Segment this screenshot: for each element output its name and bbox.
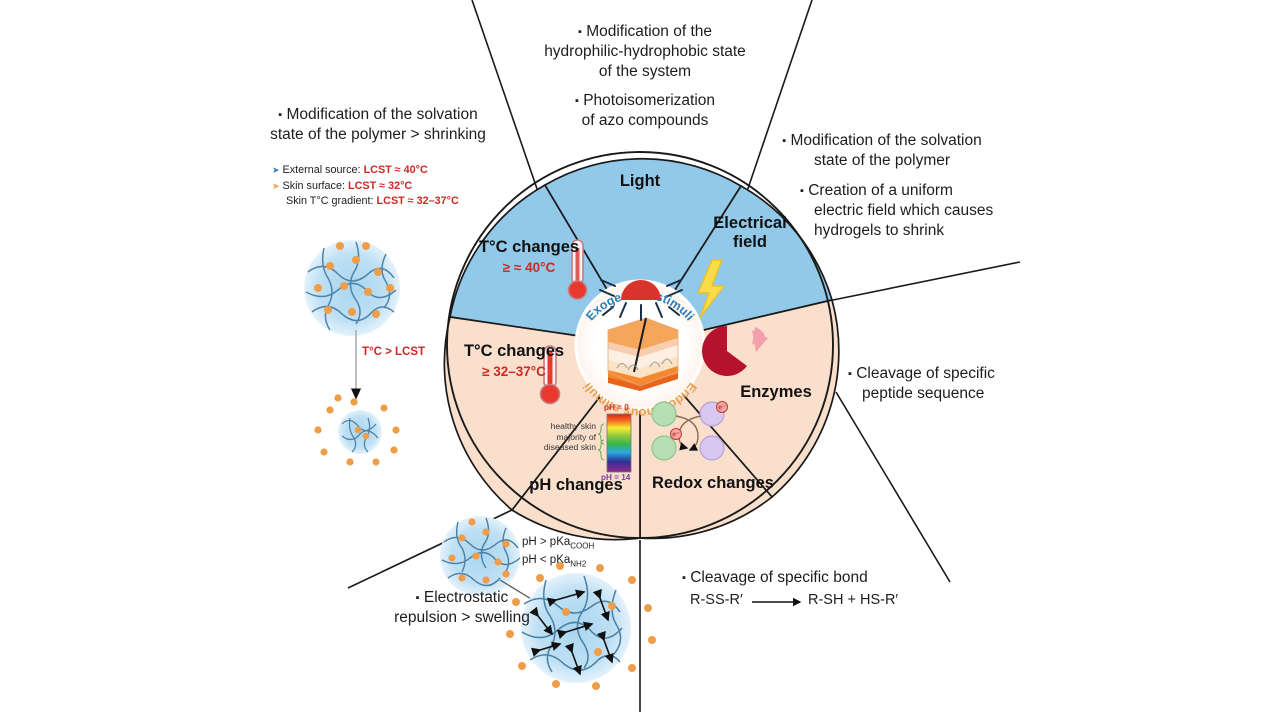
ph-legend-line3: diseased skin: [520, 442, 596, 453]
sector-label-temperature-endogenous[interactable]: T°C changes: [444, 342, 584, 361]
bullet-marker: ▪: [800, 185, 804, 197]
annotation-top-right-bullet2: ▪ Creation of a uniform electric field w…: [800, 181, 1026, 240]
pka-line-nh2: pH < pKaNH2: [522, 552, 594, 570]
pka2-text: pH < pKa: [522, 554, 570, 566]
bullet-marker: ▪: [575, 95, 579, 107]
bullet-marker: ▪: [682, 572, 686, 584]
top-right-b2-l3: hydrogels to shrink: [800, 222, 944, 239]
top-left-l2: state of the polymer > shrinking: [270, 126, 486, 143]
top-right-b1-l1: Modification of the solvation: [790, 132, 981, 149]
pka-conditions: pH > pKaCOOH pH < pKaNH2: [522, 534, 594, 571]
sub3-label: Skin T°C gradient:: [286, 195, 374, 207]
ph-scale-legend: healthy skin majority of diseased skin: [520, 421, 596, 453]
annotation-right: ▪ Cleavage of specific peptide sequence: [848, 364, 1068, 404]
pka-line-cooh: pH > pKaCOOH: [522, 534, 594, 552]
bottom-right-l1: Cleavage of specific bond: [690, 569, 868, 586]
electrical-field-line1: Electrical: [713, 214, 786, 232]
sublist-item-external-source: ➤ External source: LCST ≈ 40°C: [272, 163, 522, 179]
annotation-bottom-right: ▪ Cleavage of specific bond: [682, 568, 922, 588]
annotation-top-left: ▪ Modification of the solvation state of…: [248, 105, 508, 145]
bullet-marker: ▪: [416, 592, 420, 604]
leader-line-right-upper: [833, 262, 1020, 300]
bullet-marker: ▪: [578, 26, 582, 38]
sub3-value: LCST ≈ 32–37°C: [377, 195, 459, 207]
top-right-b1-l2: state of the polymer: [814, 152, 950, 169]
annotation-top-center-bullet2: ▪ Photoisomerization of azo compounds: [520, 91, 770, 131]
redox-reaction-right: R-SH + HS-R′: [808, 592, 898, 608]
right-l2: peptide sequence: [848, 385, 984, 402]
ph-legend-line2: majority of: [520, 432, 596, 443]
sublist-item-skin-surface: ➤ Skin surface: LCST ≈ 32°C: [272, 179, 522, 195]
pka1-text: pH > pKa: [522, 536, 570, 548]
ph-legend-line1: healthy skin: [520, 421, 596, 432]
svg-text:e⁻: e⁻: [718, 405, 726, 412]
top-center-b1-l2: hydrophilic-hydrophobic state: [544, 43, 746, 60]
sector-label-redox-changes[interactable]: Redox changes: [633, 474, 793, 493]
top-right-b2-l1: Creation of a uniform: [808, 182, 953, 199]
annotation-top-right: ▪ Modification of the solvation state of…: [748, 131, 1016, 171]
figure-canvas: Exogenous stimuli Endogenous stimuli: [0, 0, 1280, 720]
sector-label-light[interactable]: Light: [582, 172, 698, 191]
bullet-marker: ▪: [782, 135, 786, 147]
redox-reaction-left: R-SS-R′: [690, 592, 743, 608]
sector-label-enzymes[interactable]: Enzymes: [716, 383, 836, 402]
top-center-b2-l1: Photoisomerization: [583, 92, 715, 109]
bottom-left-l1: Electrostatic: [424, 589, 508, 606]
top-right-b2-l2: electric field which causes: [800, 202, 993, 219]
sub1-label: External source:: [283, 164, 361, 176]
top-center-b1-l3: of the system: [599, 63, 691, 80]
sublist-item-skin-gradient: Skin T°C gradient: LCST ≈ 32–37°C: [272, 194, 522, 210]
bullet-marker: ▪: [278, 109, 282, 121]
annotation-top-center: ▪ Modification of the hydrophilic-hydrop…: [520, 22, 770, 131]
bottom-left-l2: repulsion > swelling: [394, 609, 530, 626]
sub1-value: LCST ≈ 40°C: [364, 164, 428, 176]
sector-label-electrical-field[interactable]: Electrical field: [692, 214, 808, 252]
annotation-top-center-bullet1: ▪ Modification of the hydrophilic-hydrop…: [520, 22, 770, 81]
leader-line-right-lower: [836, 392, 950, 582]
top-left-l1: Modification of the solvation: [286, 106, 477, 123]
bullet-marker: ▪: [848, 368, 852, 380]
annotation-bottom-left: ▪ Electrostatic repulsion > swelling: [352, 588, 572, 628]
sector-sub-temperature-exogenous: ≥ ≈ 40°C: [459, 260, 599, 275]
lcst-transition-label: T°C > LCST: [362, 346, 425, 358]
right-l1: Cleavage of specific: [856, 365, 995, 382]
pka1-sub: COOH: [570, 541, 594, 550]
ph-scale-bottom-label: pH = 14: [601, 473, 630, 482]
sector-label-temperature-exogenous[interactable]: T°C changes: [459, 238, 599, 257]
annotation-top-left-sublist: ➤ External source: LCST ≈ 40°C ➤ Skin su…: [272, 163, 522, 210]
svg-text:e⁻: e⁻: [672, 432, 680, 439]
skin-cross-section-icon: [608, 318, 678, 391]
arrow-marker-blue: ➤: [272, 165, 280, 175]
ph-scale-top-label: pH = 0: [604, 403, 629, 412]
electrical-field-line2: field: [733, 233, 767, 251]
annotation-top-right-bullet1: ▪ Modification of the solvation state of…: [748, 131, 1016, 171]
sector-sub-temperature-endogenous: ≥ 32–37°C: [444, 364, 584, 379]
top-center-b2-l2: of azo compounds: [582, 112, 709, 129]
pka2-sub: NH2: [570, 560, 586, 569]
sub2-label: Skin surface:: [283, 180, 345, 192]
sub2-value: LCST ≈ 32°C: [348, 180, 412, 192]
arrow-marker-orange: ➤: [272, 181, 280, 191]
top-center-b1-l1: Modification of the: [586, 23, 712, 40]
